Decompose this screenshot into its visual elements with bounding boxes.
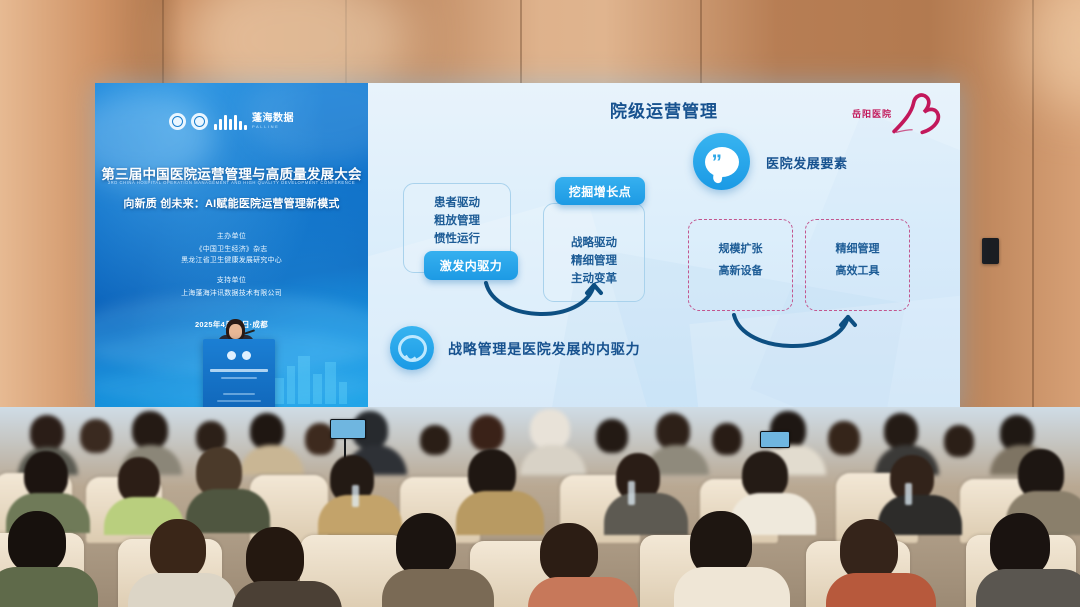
conference-subtitle-cn: 向新质 创未来：AI赋能医院运营管理新模式 — [101, 195, 362, 211]
podium — [203, 339, 275, 416]
supporter-name: 上海蓬海沣讯数据技术有限公司 — [95, 288, 368, 299]
current-state-line: 粗放管理 — [404, 212, 510, 230]
audience-head — [80, 419, 112, 453]
dashed-box-line: 高效工具 — [806, 260, 909, 282]
organizer-label: 主办单位 — [95, 231, 368, 241]
connector-arc-left — [480, 279, 604, 331]
audience-head — [530, 409, 570, 449]
hospital-name: 岳阳医院 — [852, 107, 892, 120]
audience-head — [420, 425, 450, 455]
dashed-box-refined: 精细管理 高效工具 — [805, 219, 910, 311]
audience-head — [132, 411, 168, 449]
audience-shoulders — [528, 577, 638, 607]
conference-banner: 蓬海数据 PALLINE 第三届中国医院运营管理与高质量发展大会 3RD CHI… — [95, 83, 368, 416]
wordmark-en: PALLINE — [252, 125, 279, 129]
quote-bubble-icon: ” — [693, 133, 750, 190]
future-state-line: 精细管理 — [544, 252, 644, 270]
audience-head — [944, 425, 974, 457]
dashed-box-scale: 规模扩张 高新设备 — [688, 219, 793, 311]
presentation-slide: 院级运营管理 岳阳医院 患者驱动 粗放管理 惯性运行 激发内驱力 — [368, 83, 960, 416]
audience-shoulders — [186, 489, 270, 533]
audience-head — [30, 415, 64, 451]
audience-shoulders — [976, 569, 1080, 607]
organizer-block: 主办单位 《中国卫生经济》杂志 黑龙江省卫生健康发展研究中心 支持单位 上海蓬海… — [95, 231, 368, 299]
audience-head — [884, 413, 918, 449]
audience-head — [712, 423, 742, 455]
audience-head — [540, 523, 598, 583]
audience-head — [24, 451, 68, 499]
city-skyline-graphic — [272, 344, 362, 404]
wall-speaker-box — [982, 238, 999, 264]
audience-shoulders — [826, 573, 936, 607]
led-screen: 蓬海数据 PALLINE 第三届中国医院运营管理与高质量发展大会 3RD CHI… — [95, 83, 960, 416]
audience-head — [8, 511, 66, 573]
conference-photo-scene: 蓬海数据 PALLINE 第三届中国医院运营管理与高质量发展大会 3RD CHI… — [0, 0, 1080, 607]
growth-point-pill[interactable]: 挖掘增长点 — [555, 177, 645, 205]
audience-shoulders — [456, 491, 544, 535]
audience-head — [396, 513, 456, 577]
audience-shoulders — [0, 567, 98, 607]
audience-head — [250, 413, 284, 449]
hospital-logo: 岳阳医院 — [850, 91, 946, 135]
dashed-box-line: 规模扩张 — [689, 238, 792, 260]
speaker-face — [229, 324, 242, 339]
audience-shoulders — [318, 495, 402, 535]
audience-head — [990, 513, 1050, 577]
organizer-emblem-icon — [191, 113, 208, 130]
inner-drive-pill[interactable]: 激发内驱力 — [424, 251, 518, 280]
current-state-line: 惯性运行 — [404, 230, 510, 248]
current-state-line: 患者驱动 — [404, 194, 510, 212]
audience-head — [742, 451, 788, 499]
future-state-line: 战略驱动 — [544, 234, 644, 252]
audience-head — [828, 421, 860, 455]
audience-head — [470, 415, 504, 451]
audience-shoulders — [128, 573, 236, 607]
palline-wordmark: 蓬海数据 PALLINE — [213, 114, 294, 130]
supporter-label: 支持单位 — [95, 275, 368, 285]
audience-head — [150, 519, 206, 579]
elements-heading: 医院发展要素 — [766, 153, 848, 172]
dashed-box-line: 高新设备 — [689, 260, 792, 282]
water-bottle — [905, 483, 912, 505]
audience-head — [596, 419, 628, 453]
water-bottle — [352, 485, 359, 507]
footer-statement: 战略管理是医院发展的内驱力 — [448, 339, 640, 359]
palline-bars-icon — [213, 114, 249, 130]
connector-arc-right — [728, 311, 858, 363]
organizer-name: 《中国卫生经济》杂志 — [95, 244, 368, 255]
heart-swoosh-icon — [890, 91, 944, 135]
speech-bubble-outline-icon — [390, 326, 434, 370]
wordmark-cn: 蓬海数据 — [252, 114, 294, 124]
audience-shoulders — [382, 569, 494, 607]
water-bottle — [628, 481, 635, 505]
audience-shoulders — [232, 581, 342, 607]
organizer-name: 黑龙江省卫生健康发展研究中心 — [95, 255, 368, 266]
dashed-box-line: 精细管理 — [806, 238, 909, 260]
banner-logo-row: 蓬海数据 PALLINE — [95, 113, 368, 130]
audience-head — [246, 527, 304, 589]
phone-camera[interactable] — [760, 431, 790, 448]
audience-shoulders — [604, 493, 688, 535]
phone-camera[interactable] — [330, 419, 366, 439]
audience-area — [0, 407, 1080, 607]
audience-head — [656, 413, 690, 449]
organizer-emblem-icon — [169, 113, 186, 130]
audience-head — [840, 519, 898, 581]
conference-title-en: 3RD CHINA HOSPITAL OPERATION MANAGEMENT … — [103, 180, 360, 185]
audience-shoulders — [674, 567, 790, 607]
